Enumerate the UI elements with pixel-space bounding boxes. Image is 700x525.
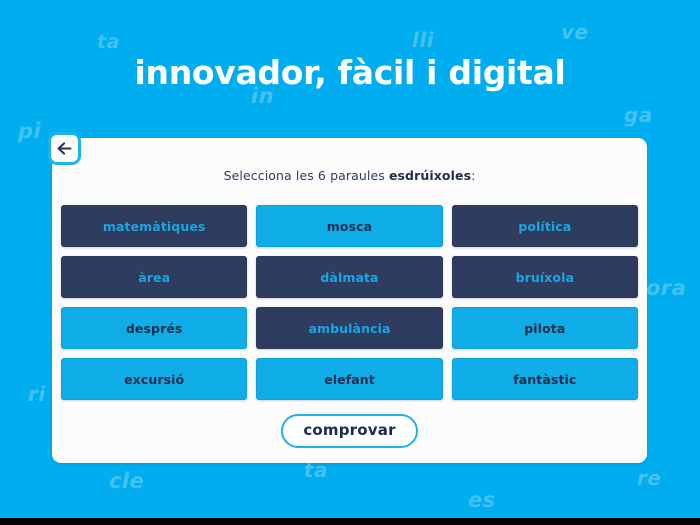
instruction-suffix: : (471, 168, 475, 183)
instruction-emphasis: esdrúixoles (389, 168, 471, 183)
word-tile-label: elefant (324, 372, 375, 387)
word-tile[interactable]: excursió (61, 358, 247, 400)
word-tile-label: àrea (138, 270, 170, 285)
check-button[interactable]: comprovar (281, 414, 417, 448)
instruction-text: Selecciona les 6 paraules esdrúixoles: (52, 168, 647, 183)
decor-syllable: es (468, 488, 496, 512)
bottom-bar (0, 518, 700, 525)
word-tile[interactable]: fantàstic (452, 358, 638, 400)
app-header: innovador, fàcil i digital (0, 0, 700, 138)
word-tile[interactable]: després (61, 307, 247, 349)
decor-syllable: ri (28, 382, 46, 406)
word-tile[interactable]: àrea (61, 256, 247, 298)
word-tile[interactable]: mosca (256, 205, 442, 247)
instruction-prefix: Selecciona les 6 paraules (224, 168, 389, 183)
word-tile[interactable]: dàlmata (256, 256, 442, 298)
word-tile[interactable]: política (452, 205, 638, 247)
word-tile-label: pilota (524, 321, 565, 336)
word-tile-label: dàlmata (320, 270, 378, 285)
word-tile[interactable]: bruíxola (452, 256, 638, 298)
decor-syllable: re (637, 466, 661, 490)
arrow-left-icon (55, 139, 74, 158)
word-tile-label: mosca (327, 219, 372, 234)
word-grid: matemàtiquesmoscapolíticaàreadàlmatabruí… (61, 205, 638, 400)
word-tile-label: ambulància (308, 321, 390, 336)
word-tile[interactable]: ambulància (256, 307, 442, 349)
back-button[interactable] (48, 132, 81, 165)
word-tile[interactable]: elefant (256, 358, 442, 400)
check-button-container: comprovar (52, 414, 647, 448)
word-tile-label: fantàstic (513, 372, 576, 387)
exercise-card: Selecciona les 6 paraules esdrúixoles: m… (52, 138, 647, 463)
word-tile-label: excursió (124, 372, 184, 387)
word-tile-label: matemàtiques (103, 219, 206, 234)
word-tile-label: política (518, 219, 571, 234)
decor-syllable: ora (646, 276, 686, 300)
decor-syllable: cle (109, 469, 144, 493)
word-tile[interactable]: matemàtiques (61, 205, 247, 247)
page-title: innovador, fàcil i digital (134, 56, 565, 89)
word-tile-label: després (126, 321, 183, 336)
word-tile[interactable]: pilota (452, 307, 638, 349)
word-tile-label: bruíxola (516, 270, 574, 285)
